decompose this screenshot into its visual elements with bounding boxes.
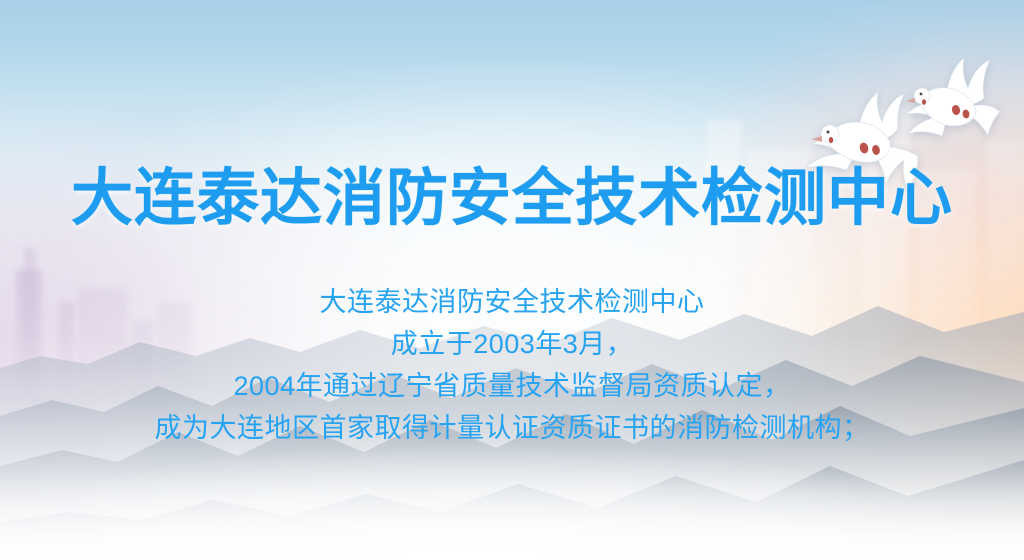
hero-banner: 大连泰达消防安全技术检测中心 大连泰达消防安全技术检测中心 成立于2003年3月… xyxy=(0,0,1024,560)
description-block: 大连泰达消防安全技术检测中心 成立于2003年3月， 2004年通过辽宁省质量技… xyxy=(0,281,1024,449)
ground-fog-overlay xyxy=(0,0,1024,560)
text-backdrop-glow xyxy=(0,0,1024,560)
city-skyline-decoration xyxy=(0,0,1024,560)
mist-overlay xyxy=(0,0,1024,560)
sky-gradient-background xyxy=(0,0,1024,560)
description-line: 大连泰达消防安全技术检测中心 xyxy=(0,281,1024,323)
light-beams-decoration xyxy=(0,0,1024,560)
lavender-haze-overlay xyxy=(0,0,1024,560)
description-line: 成为大连地区首家取得计量认证资质证书的消防检测机构； xyxy=(0,407,1024,449)
description-line: 2004年通过辽宁省质量技术监督局资质认定， xyxy=(0,365,1024,407)
description-line: 成立于2003年3月， xyxy=(0,323,1024,365)
dove-icon xyxy=(898,56,1002,148)
warm-glow-overlay xyxy=(0,0,1024,560)
page-title: 大连泰达消防安全技术检测中心 xyxy=(0,166,1024,232)
doves-decoration-group xyxy=(0,0,1024,560)
mountain-range-decoration xyxy=(0,0,1024,560)
